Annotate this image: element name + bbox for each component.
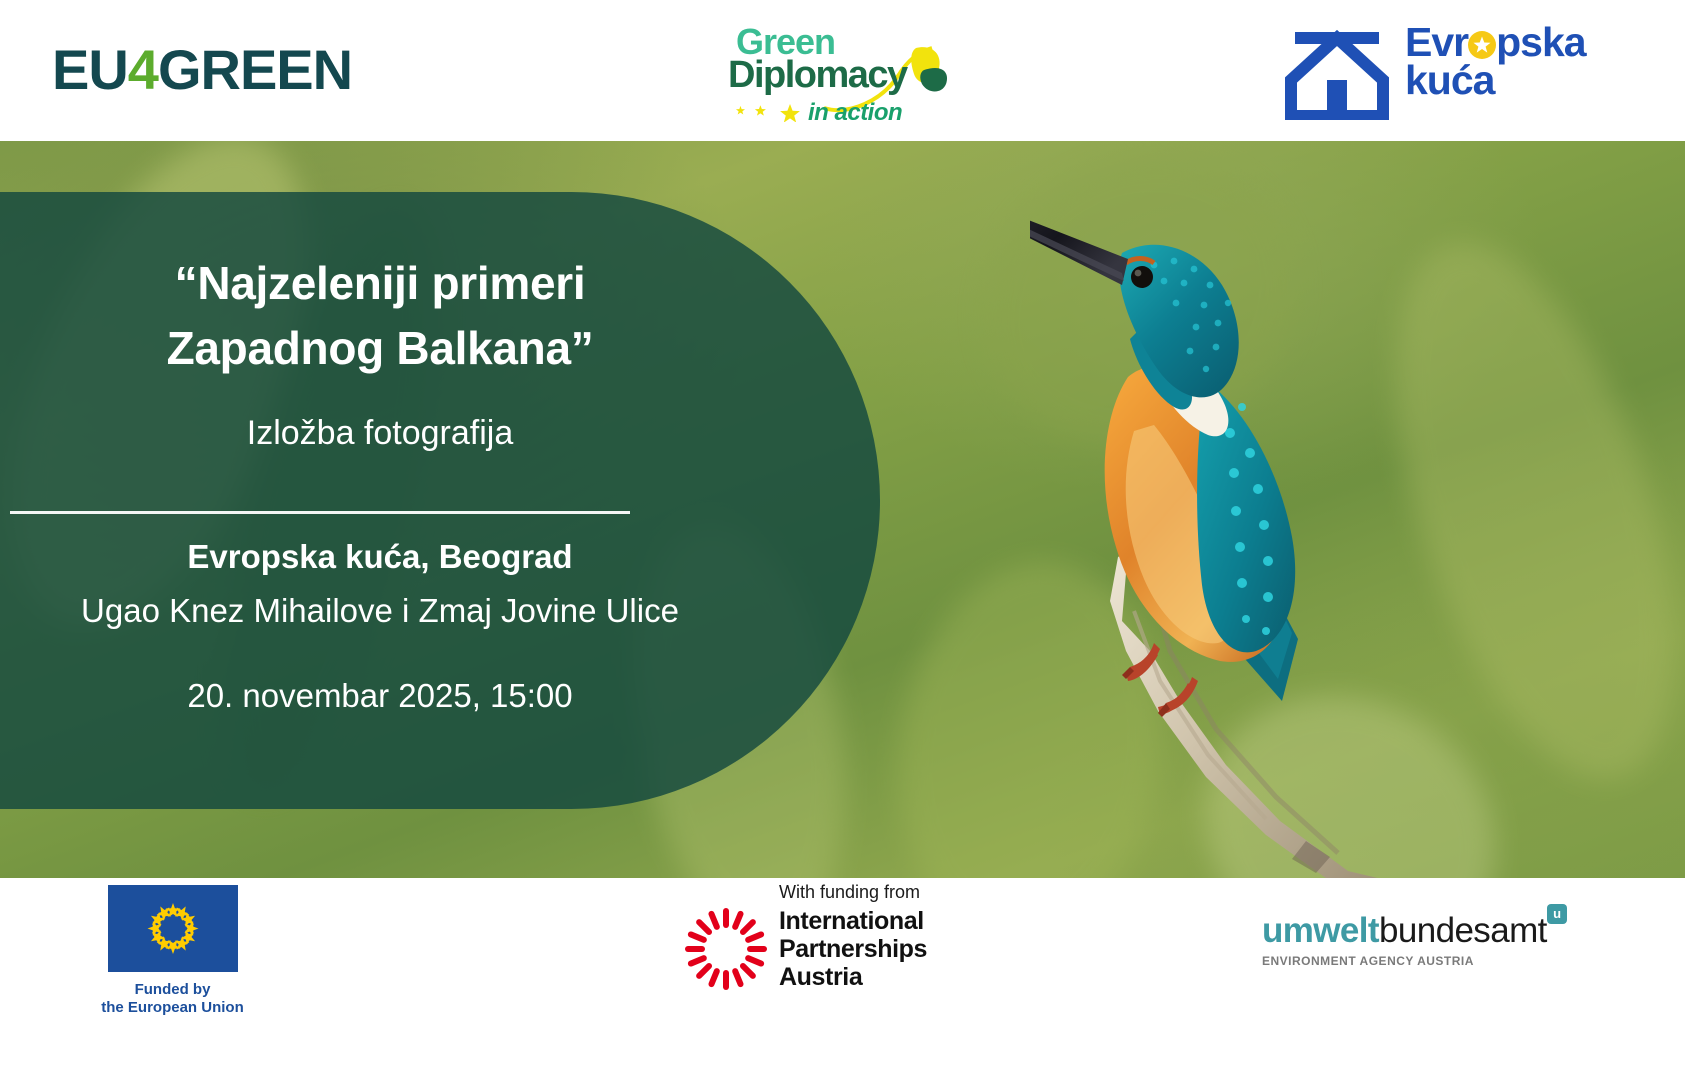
ipa-line1: International (779, 907, 927, 935)
ipa-line3: Austria (779, 963, 927, 991)
eu4green-text-eu: EU (52, 38, 128, 101)
event-title-line2: Zapadnog Balkana” (0, 316, 760, 381)
umweltbundesamt-wordmark: umweltbundesamt u (1262, 913, 1547, 948)
eu4green-text-4: 4 (128, 38, 158, 101)
international-partnerships-name: International Partnerships Austria (779, 907, 927, 991)
poster-root: EU4GREEN Green Diplomacy in action (0, 0, 1685, 1080)
header-logo-bar: EU4GREEN Green Diplomacy in action (0, 0, 1685, 141)
ipa-line2: Partnerships (779, 935, 927, 963)
event-subtitle: Izložba fotografija (0, 413, 760, 454)
uba-superscript-badge: u (1547, 904, 1567, 924)
event-venue: Evropska kuća, Beograd (0, 537, 760, 577)
star-o-icon (1468, 31, 1496, 59)
eu-funded-line2: the European Union (75, 999, 270, 1017)
umweltbundesamt-logo: umweltbundesamt u ENVIRONMENT AGENCY AUS… (1262, 913, 1572, 968)
event-title: “Najzeleniji primeri Zapadnog Balkana” (0, 251, 760, 382)
uba-word-black: bundesamt (1379, 911, 1547, 950)
evropska-post: pska (1496, 19, 1585, 65)
evropska-kuca-logo: Evrpskakuća (1283, 22, 1583, 122)
event-title-line1: “Najzeleniji primeri (0, 251, 760, 316)
event-address: Ugao Knez Mihailove i Zmaj Jovine Ulice (0, 591, 760, 631)
eu4green-logo: EU4GREEN (52, 42, 352, 98)
eu-funded-line1: Funded by (75, 981, 270, 999)
green-diplomacy-line3: in action (808, 101, 902, 125)
with-funding-from-label: With funding from (779, 883, 920, 901)
eu4green-text-green: GREEN (158, 38, 352, 101)
event-datetime: 20. novembar 2025, 15:00 (0, 676, 760, 716)
evropska-kuca-text: Evrpskakuća (1405, 24, 1586, 99)
stars-icon (734, 98, 812, 122)
uba-word-teal: umwelt (1262, 911, 1379, 950)
eu-funded-caption: Funded by the European Union (75, 981, 270, 1018)
kingfisher-illustration (1030, 181, 1450, 878)
section-divider (10, 511, 630, 514)
eu-funding-logo: Funded by the European Union (75, 885, 270, 1018)
event-info-block: “Najzeleniji primeri Zapadnog Balkana” I… (0, 141, 880, 878)
uba-tagline: ENVIRONMENT AGENCY AUSTRIA (1262, 954, 1572, 968)
house-icon (1283, 28, 1391, 120)
footer-logo-bar: Funded by the European Union With fundin… (0, 878, 1685, 1080)
kuca-text: kuća (1405, 57, 1494, 103)
eu-flag-icon (108, 885, 238, 972)
sunburst-icon (683, 906, 769, 992)
green-diplomacy-line2: Diplomacy (728, 56, 907, 94)
green-diplomacy-logo: Green Diplomacy in action (728, 22, 948, 127)
